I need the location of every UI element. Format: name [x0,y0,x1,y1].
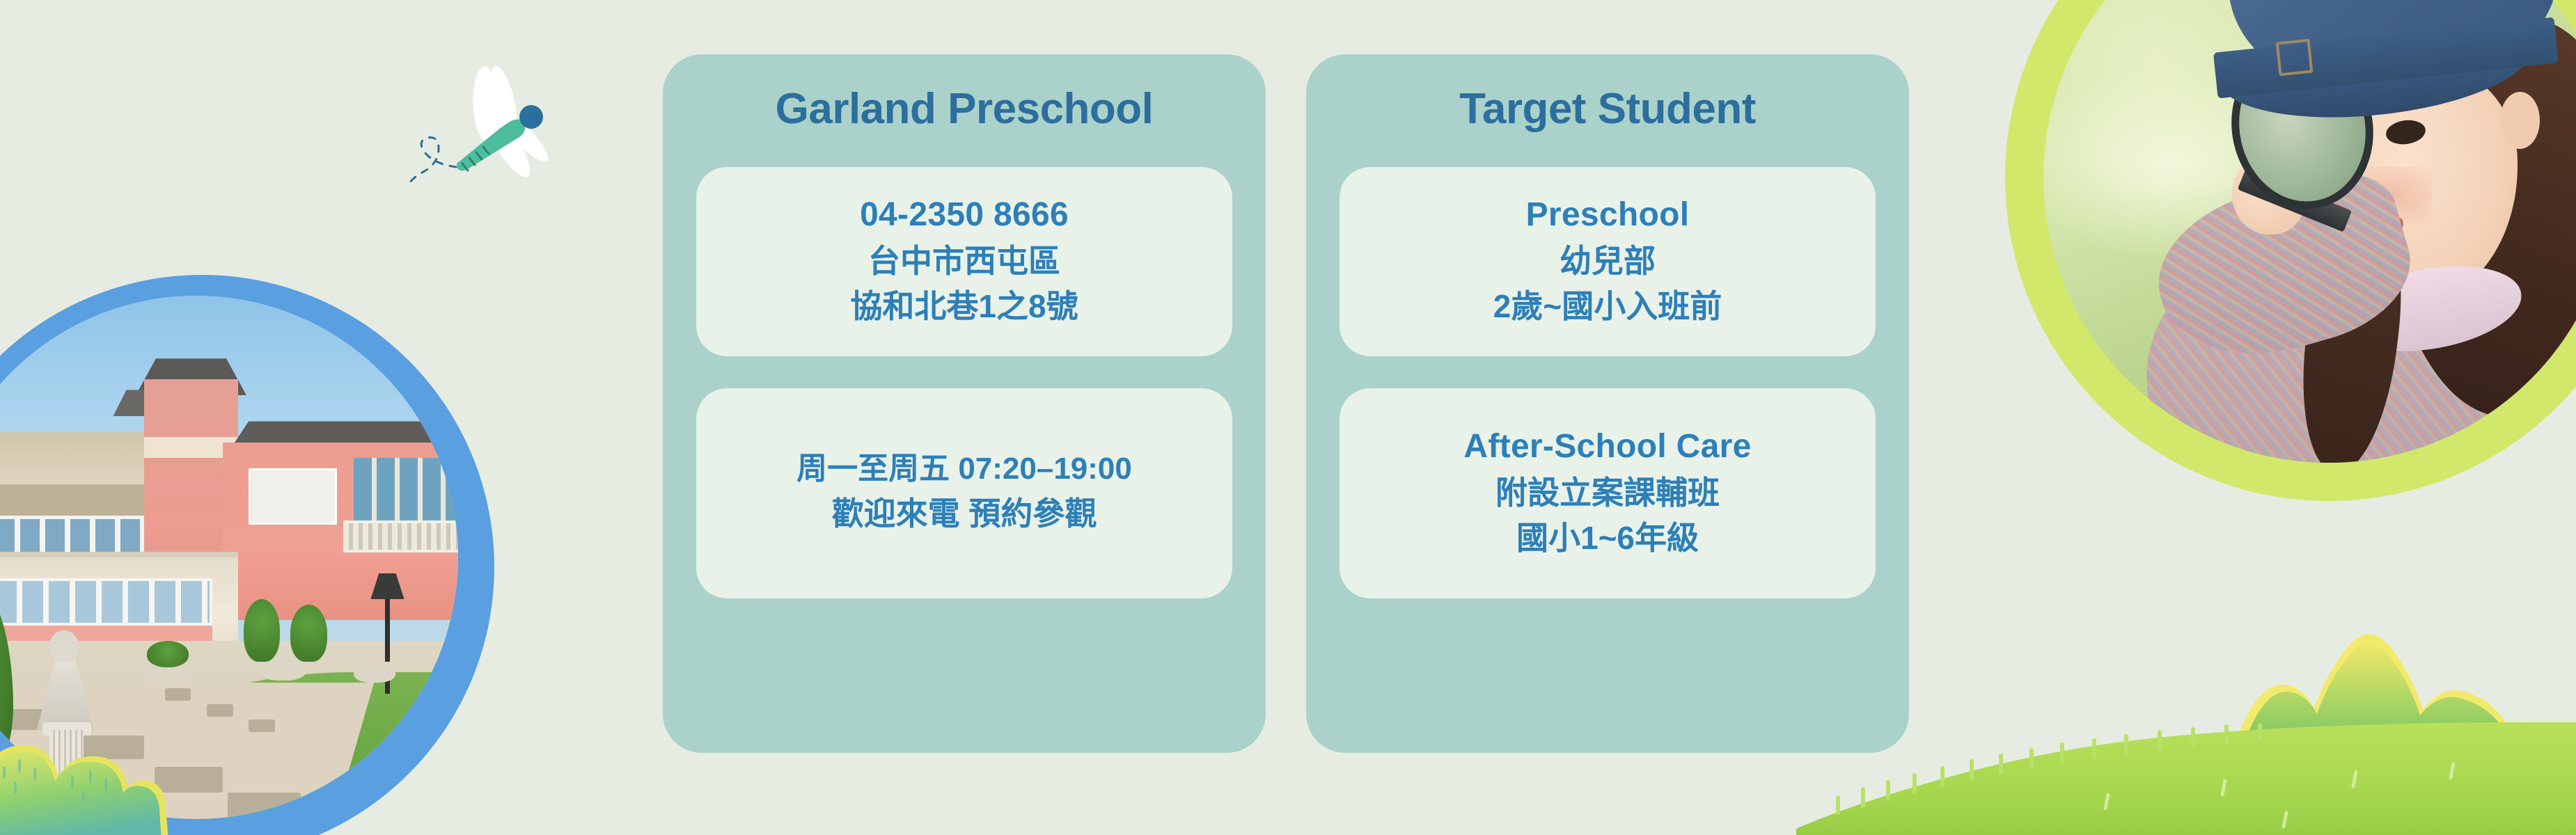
address-line-2: 協和北巷1之8號 [850,284,1078,329]
child-magnifying-glass-photo [2005,0,2576,501]
child-photo-illustration [2043,0,2576,463]
preschool-card: Preschool 幼兒部 2歲~國小入班前 [1340,167,1876,356]
panel-title-garland: Garland Preschool [776,88,1154,131]
preschool-age-range: 2歲~國小入班前 [1493,284,1722,329]
phone-number[interactable]: 04-2350 8666 [860,191,1069,239]
dragonfly-icon [390,59,585,191]
after-school-grade-range: 國小1~6年級 [1516,516,1699,561]
preschool-label-zh: 幼兒部 [1560,239,1656,284]
info-panels: Garland Preschool 04-2350 8666 台中市西屯區 協和… [663,54,1909,753]
panel-target-student: Target Student Preschool 幼兒部 2歲~國小入班前 Af… [1306,54,1909,753]
hours-card: 周一至周五 07:20–19:00 歡迎來電 預約參觀 [696,388,1232,598]
address-line-1: 台中市西屯區 [868,239,1060,284]
after-school-card: After-School Care 附設立案課輔班 國小1~6年級 [1340,388,1876,598]
preschool-label-en: Preschool [1526,191,1690,239]
opening-hours: 周一至周五 07:20–19:00 [796,447,1132,491]
banner-canvas: Garland Preschool 04-2350 8666 台中市西屯區 協和… [0,0,2576,835]
visit-invitation: 歡迎來電 預約參觀 [832,491,1097,536]
after-school-label-en: After-School Care [1463,423,1751,470]
hills-icon [1796,536,2576,835]
child-photo-clip [2043,0,2576,463]
bushes-icon [0,713,216,835]
panel-garland-preschool: Garland Preschool 04-2350 8666 台中市西屯區 協和… [663,54,1266,753]
contact-card: 04-2350 8666 台中市西屯區 協和北巷1之8號 [696,167,1232,356]
panel-title-target-student: Target Student [1459,88,1756,131]
after-school-label-zh: 附設立案課輔班 [1495,470,1720,516]
